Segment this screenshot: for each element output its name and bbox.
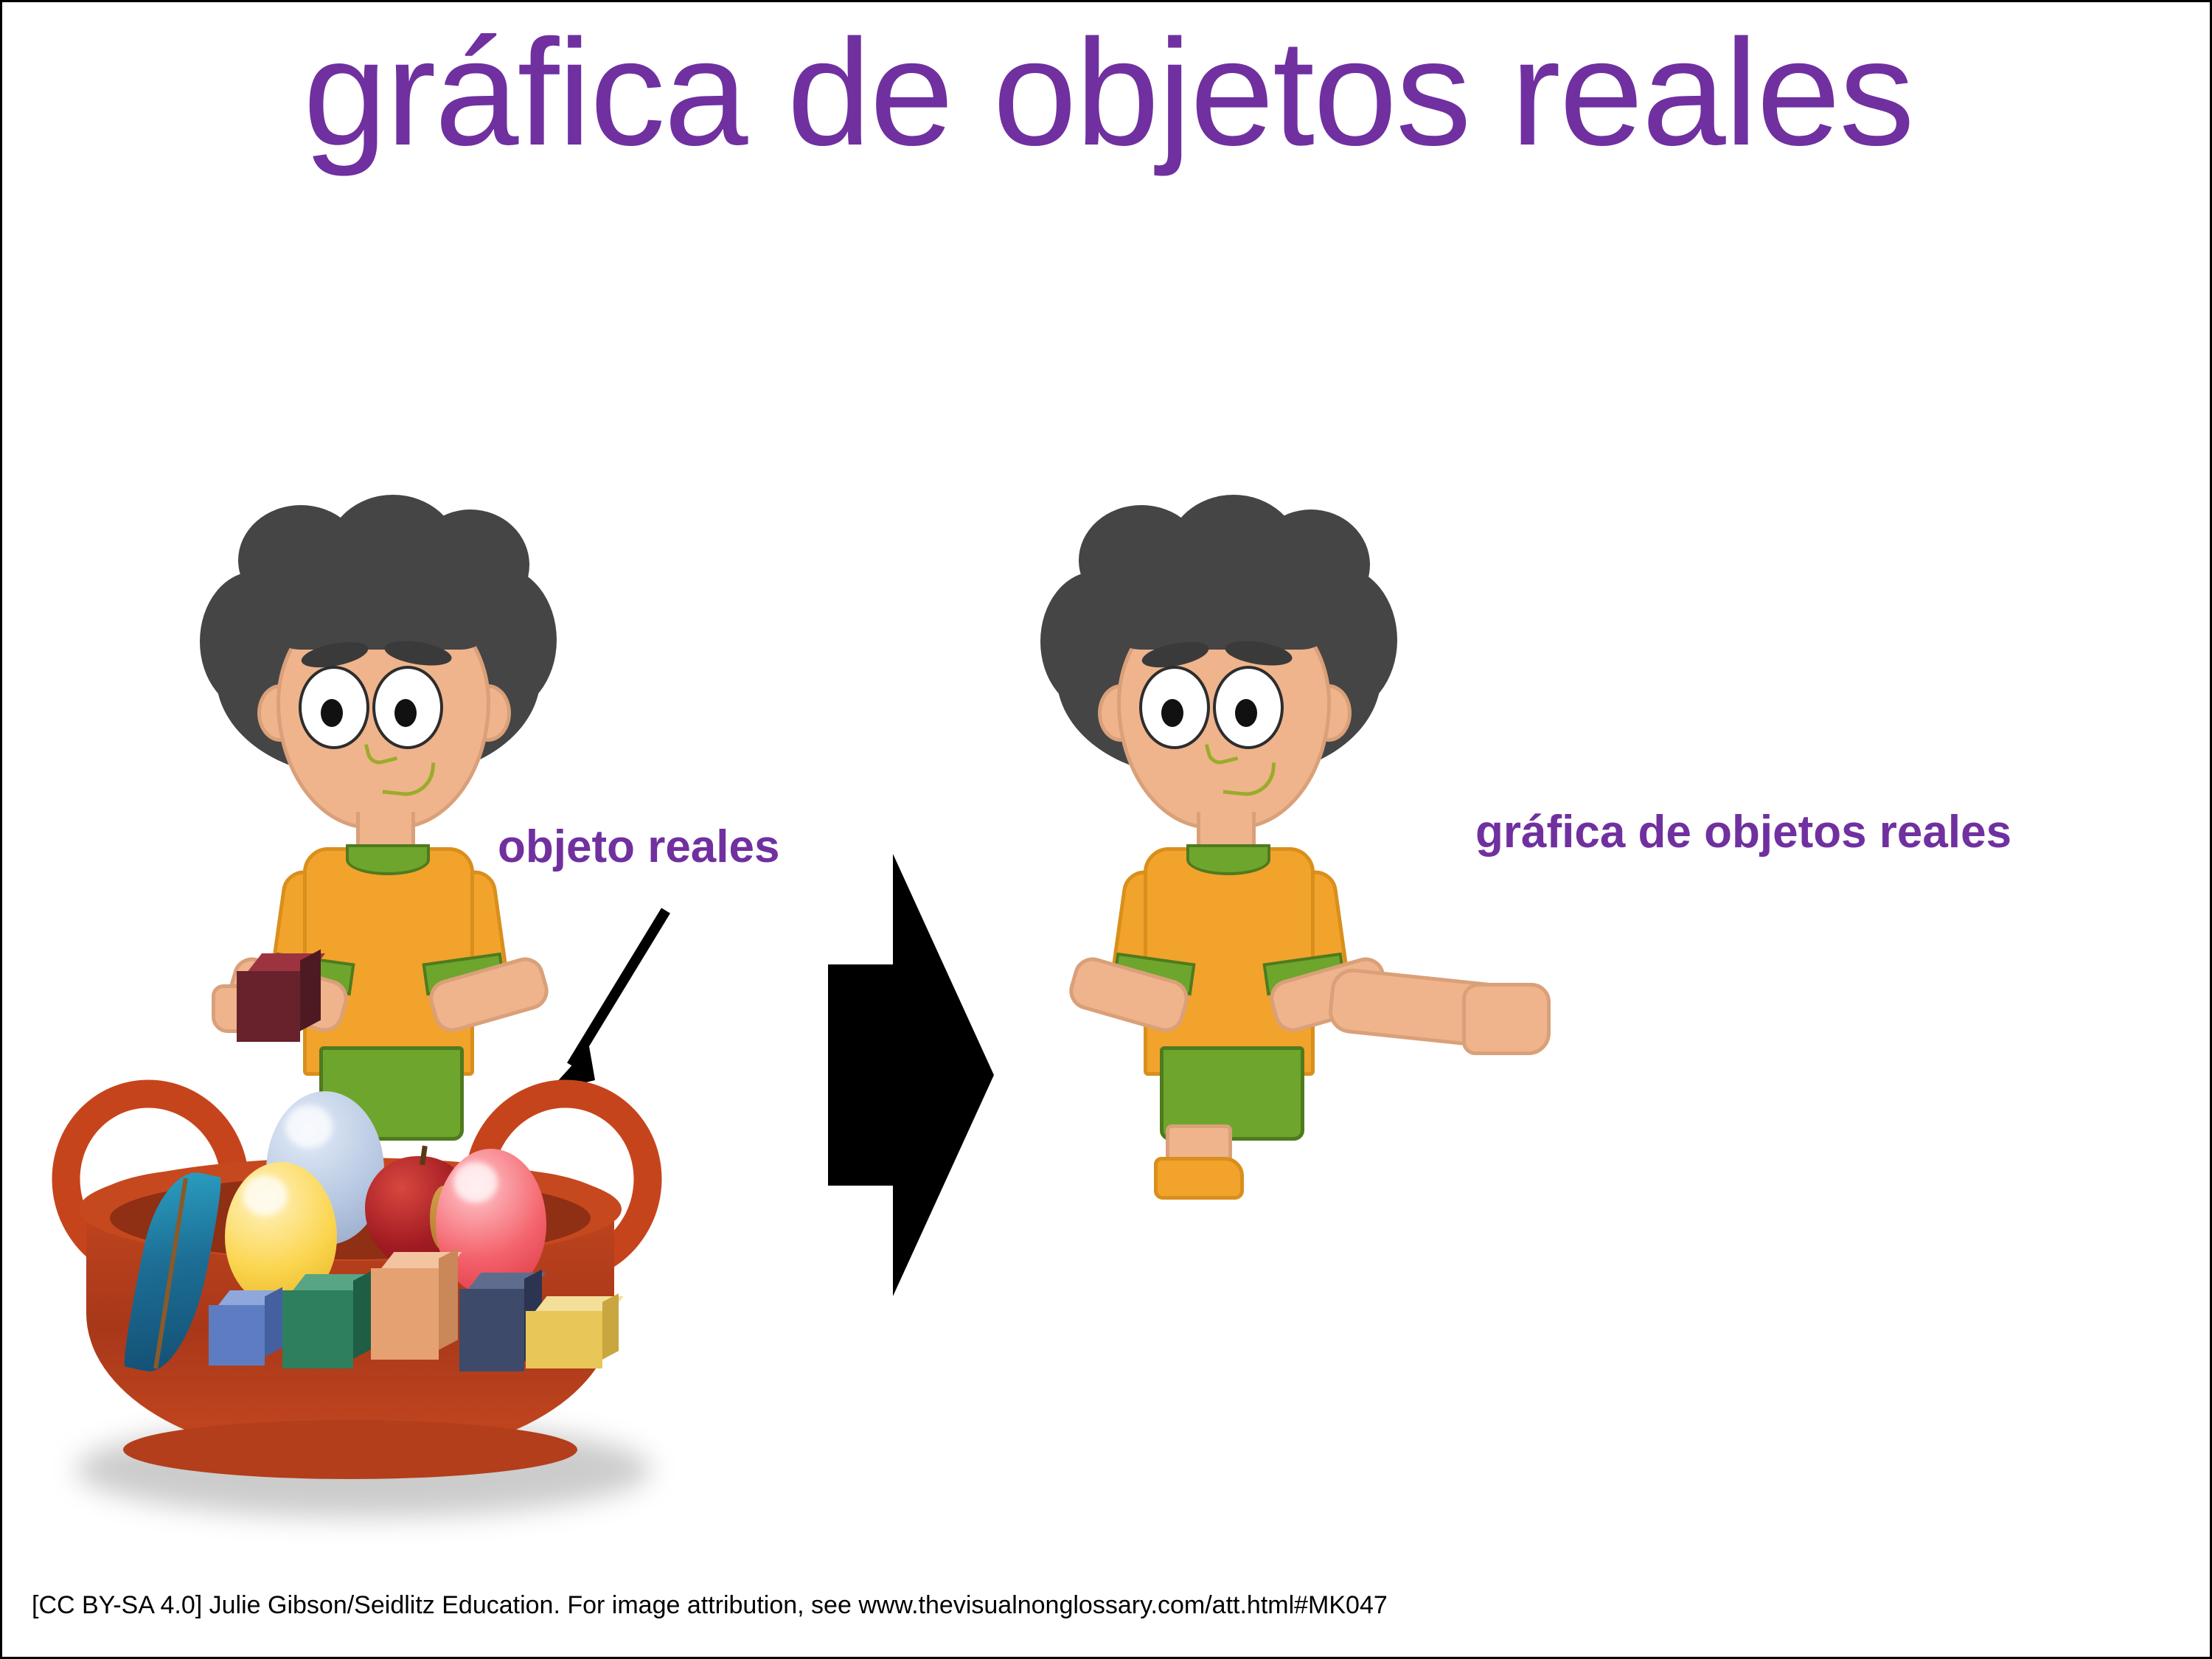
cube-front-face — [237, 971, 300, 1042]
label-objeto-reales: objeto reales — [498, 821, 779, 873]
right-scene: gráfica de objetos reales — [1049, 2, 2212, 1565]
held-dark-red-cube — [237, 953, 325, 1049]
child-collar — [346, 844, 430, 875]
child-reaching-hand — [1462, 983, 1551, 1055]
basket-of-real-objects — [32, 1075, 681, 1525]
cube-front-face — [371, 1268, 439, 1360]
cube-side-face — [265, 1287, 282, 1357]
green-block-object — [282, 1274, 378, 1385]
child-pupil-left — [321, 699, 343, 727]
child-pupil-right — [1235, 699, 1257, 727]
cube-front-face — [209, 1305, 265, 1366]
slide-canvas: gráfica de objetos reales — [0, 0, 2212, 1659]
left-scene: objeto reales — [2, 2, 828, 1565]
child-collar — [1186, 844, 1270, 875]
basket-base — [123, 1420, 577, 1479]
child-pupil-right — [394, 699, 417, 727]
peach-block-object — [371, 1252, 467, 1377]
cube-side-face — [300, 950, 321, 1032]
black-right-arrow — [828, 854, 1049, 1296]
cube-side-face — [602, 1293, 619, 1360]
cube-side-face — [439, 1248, 458, 1350]
cube-front-face — [526, 1311, 602, 1368]
child-figure-right — [1049, 526, 1388, 1189]
cube-side-face — [353, 1270, 372, 1359]
cube-front-face — [282, 1290, 353, 1368]
child-shoe — [1154, 1157, 1244, 1200]
yellow-block-object — [526, 1296, 629, 1385]
blue-block-object — [209, 1290, 290, 1379]
attribution-credit: [CC BY-SA 4.0] Julie Gibson/Seidlitz Edu… — [32, 1591, 1388, 1620]
child-pupil-left — [1161, 699, 1183, 727]
cube-front-face — [459, 1289, 524, 1371]
label-grafica-de-objetos-reales: gráfica de objetos reales — [1475, 806, 2011, 858]
